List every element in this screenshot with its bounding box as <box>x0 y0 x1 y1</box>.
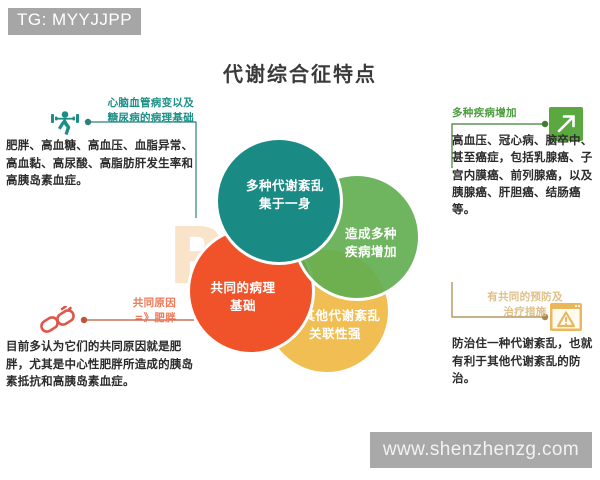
callout-top-right: 多种疾病增加 高血压、冠心病、脑卒中、甚至癌症，包括乳腺癌、子宫内膜癌、前列腺癌… <box>452 106 598 218</box>
callout-top-right-body: 高血压、冠心病、脑卒中、甚至癌症，包括乳腺癌、子宫内膜癌、前列腺癌，以及胰腺癌、… <box>452 132 598 218</box>
callout-bottom-left-heading: 共同原因 =》肥胖 <box>6 296 198 326</box>
callout-bottom-right: 有共同的预防及 治疗措施 防治住一种代谢紊乱，也就有利于其他代谢紊乱的防治。 <box>452 290 598 387</box>
venn-label-green: 造成多种 疾病增加 <box>345 225 397 261</box>
infographic-canvas: TG: MYYJJPP 代谢综合征特点 ROS 多种代谢紊乱 集于一身 造成多种… <box>0 0 600 480</box>
callout-bottom-left: 共同原因 =》肥胖 目前多认为它们的共同原因就是肥胖，尤其是中心性肥胖所造成的胰… <box>6 296 198 390</box>
venn-label-red: 共同的病理 基础 <box>210 279 275 315</box>
page-title: 代谢综合征特点 <box>0 58 600 87</box>
callout-top-left: 心脑血管病变以及 糖尿病的病理基础 肥胖、高血糖、高血压、血脂异常、高血黏、高尿… <box>6 96 196 189</box>
tg-tag: TG: MYYJJPP <box>8 8 141 35</box>
callout-bottom-right-body: 防治住一种代谢紊乱，也就有利于其他代谢紊乱的防治。 <box>452 335 598 387</box>
venn-circle-teal[interactable]: 多种代谢紊乱 集于一身 <box>215 137 343 265</box>
callout-bottom-right-heading: 有共同的预防及 治疗措施 <box>452 290 598 320</box>
callout-top-left-body: 肥胖、高血糖、高血压、血脂异常、高血黏、高尿酸、高脂肪肝发生率和高胰岛素血症。 <box>6 137 196 189</box>
callout-top-left-heading: 心脑血管病变以及 糖尿病的病理基础 <box>6 96 196 126</box>
callout-top-right-heading: 多种疾病增加 <box>452 106 598 121</box>
venn-diagram: 多种代谢紊乱 集于一身 造成多种 疾病增加 共同的病理 基础 与其他代谢紊乱 关… <box>185 135 425 375</box>
venn-label-teal: 多种代谢紊乱 集于一身 <box>246 177 324 213</box>
site-url-watermark: www.shenzhenzg.com <box>370 432 592 468</box>
callout-bottom-left-body: 目前多认为它们的共同原因就是肥胖，尤其是中心性肥胖所造成的胰岛素抵抗和高胰岛素血… <box>6 338 198 390</box>
